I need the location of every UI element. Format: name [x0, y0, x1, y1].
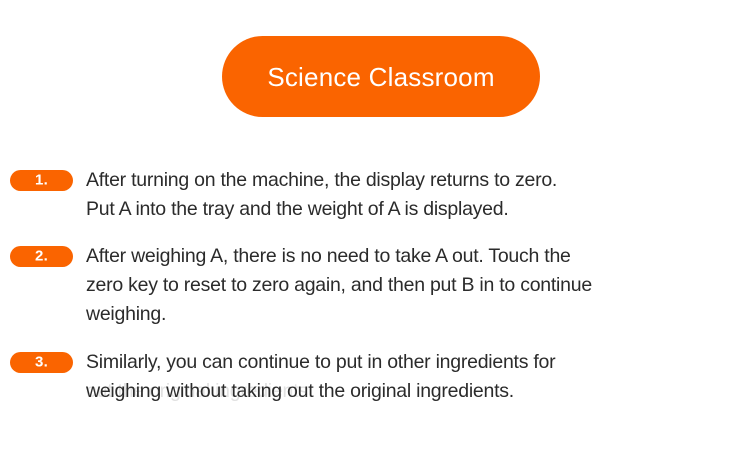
- step-number-label: 3.: [35, 355, 48, 370]
- step-number-label: 1.: [35, 173, 48, 188]
- step-number-badge-2: 2.: [10, 246, 73, 267]
- step-number-badge-3: 3.: [10, 352, 73, 373]
- step-text-2: After weighing A, there is no need to ta…: [86, 242, 736, 329]
- step-text-1: After turning on the machine, the displa…: [86, 166, 736, 224]
- page-title-pill: Science Classroom: [222, 36, 540, 117]
- step-number-label: 2.: [35, 249, 48, 264]
- step-text-3: Similarly, you can continue to put in ot…: [86, 348, 736, 406]
- step-number-badge-1: 1.: [10, 170, 73, 191]
- page-title: Science Classroom: [267, 64, 494, 90]
- instruction-page: Science Classroom 1. After turning on th…: [0, 0, 746, 466]
